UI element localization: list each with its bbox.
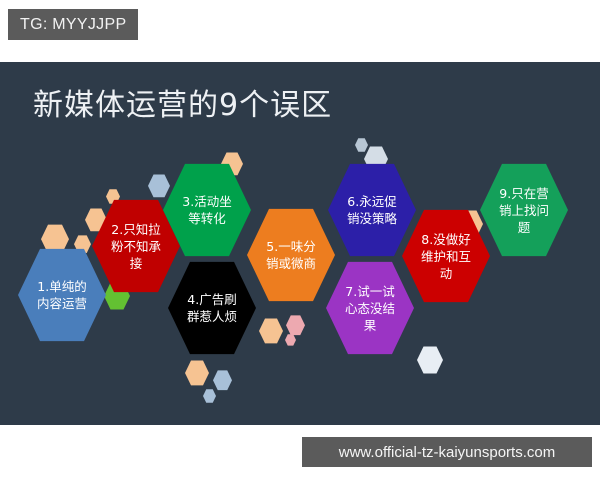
decorative-hexagon — [203, 389, 216, 403]
hexagon-label: 7.试一试心态没结果 — [326, 283, 414, 334]
decorative-hexagon — [259, 318, 283, 344]
hexagon-label: 4.广告刷群惹人烦 — [168, 291, 256, 325]
decorative-hexagon — [148, 174, 170, 198]
hexagon-label: 9.只在营销上找问题 — [480, 185, 568, 236]
hexagon-5[interactable]: 5.一味分销或微商 — [247, 207, 335, 303]
hexagon-4[interactable]: 4.广告刷群惹人烦 — [168, 260, 256, 356]
slide-canvas: 新媒体运营的9个误区 1.单纯的内容运营2.只知拉粉不知承接3.活动坐等转化4.… — [0, 62, 600, 425]
decorative-hexagon — [417, 346, 443, 374]
decorative-hexagon — [185, 360, 209, 386]
url-banner-text: www.official-tz-kaiyunsports.com — [339, 444, 555, 461]
watermark-badge: TG: MYYJJPP — [8, 9, 138, 40]
decorative-hexagon — [355, 138, 368, 152]
decorative-hexagon — [285, 334, 296, 346]
decorative-hexagon — [213, 370, 232, 391]
watermark-label: TG: MYYJJPP — [20, 16, 126, 34]
hexagon-9[interactable]: 9.只在营销上找问题 — [480, 162, 568, 258]
hexagon-label: 6.永远促销没策略 — [328, 193, 416, 227]
decorative-hexagon — [286, 315, 305, 336]
page-title: 新媒体运营的9个误区 — [33, 80, 332, 124]
hexagon-label: 5.一味分销或微商 — [247, 238, 335, 272]
hexagon-1[interactable]: 1.单纯的内容运营 — [18, 247, 106, 343]
hexagon-label: 1.单纯的内容运营 — [18, 278, 106, 312]
hexagon-label: 3.活动坐等转化 — [163, 193, 251, 227]
hexagon-7[interactable]: 7.试一试心态没结果 — [326, 260, 414, 356]
hexagon-label: 2.只知拉粉不知承接 — [92, 221, 180, 272]
url-banner: www.official-tz-kaiyunsports.com — [302, 437, 592, 467]
hexagon-6[interactable]: 6.永远促销没策略 — [328, 162, 416, 258]
hexagon-label: 8.没做好维护和互动 — [402, 231, 490, 282]
